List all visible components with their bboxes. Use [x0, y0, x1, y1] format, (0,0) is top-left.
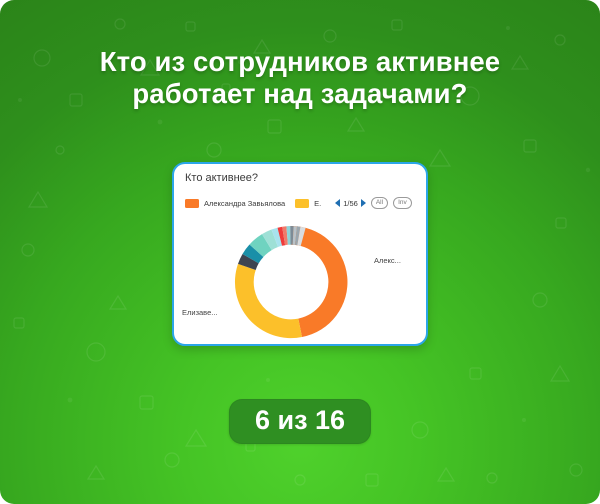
pager-label: 1/56	[343, 199, 358, 208]
legend-label-2: Е.	[314, 199, 321, 208]
title-line-1: Кто из сотрудников активнее	[100, 46, 500, 77]
step-counter-badge: 6 из 16	[229, 399, 371, 444]
chart-legend: Александра Завьялова Е. 1/56 All Inv	[185, 195, 420, 211]
legend-swatch-2	[295, 199, 309, 208]
invert-selection-button[interactable]: Inv	[393, 197, 412, 209]
legend-label-1: Александра Завьялова	[204, 199, 285, 208]
legend-pager[interactable]: 1/56	[335, 199, 366, 208]
triangle-right-icon[interactable]	[361, 199, 366, 207]
slide-title: Кто из сотрудников активнее работает над…	[0, 46, 600, 110]
donut-chart[interactable]: Алекс... Елизаве...	[174, 216, 426, 344]
legend-swatch-1	[185, 199, 199, 208]
donut-slice-2[interactable]	[235, 264, 302, 338]
select-all-button[interactable]: All	[371, 197, 388, 209]
widget-card[interactable]: Кто активнее? Александра Завьялова Е. 1/…	[172, 162, 428, 346]
slide-root: Кто из сотрудников активнее работает над…	[0, 0, 600, 504]
donut-label-right: Алекс...	[374, 256, 401, 265]
title-line-2: работает над задачами?	[34, 78, 566, 110]
donut-label-left: Елизаве...	[182, 308, 218, 317]
donut-svg	[174, 216, 428, 344]
triangle-left-icon[interactable]	[335, 199, 340, 207]
widget-title: Кто активнее?	[185, 172, 258, 184]
